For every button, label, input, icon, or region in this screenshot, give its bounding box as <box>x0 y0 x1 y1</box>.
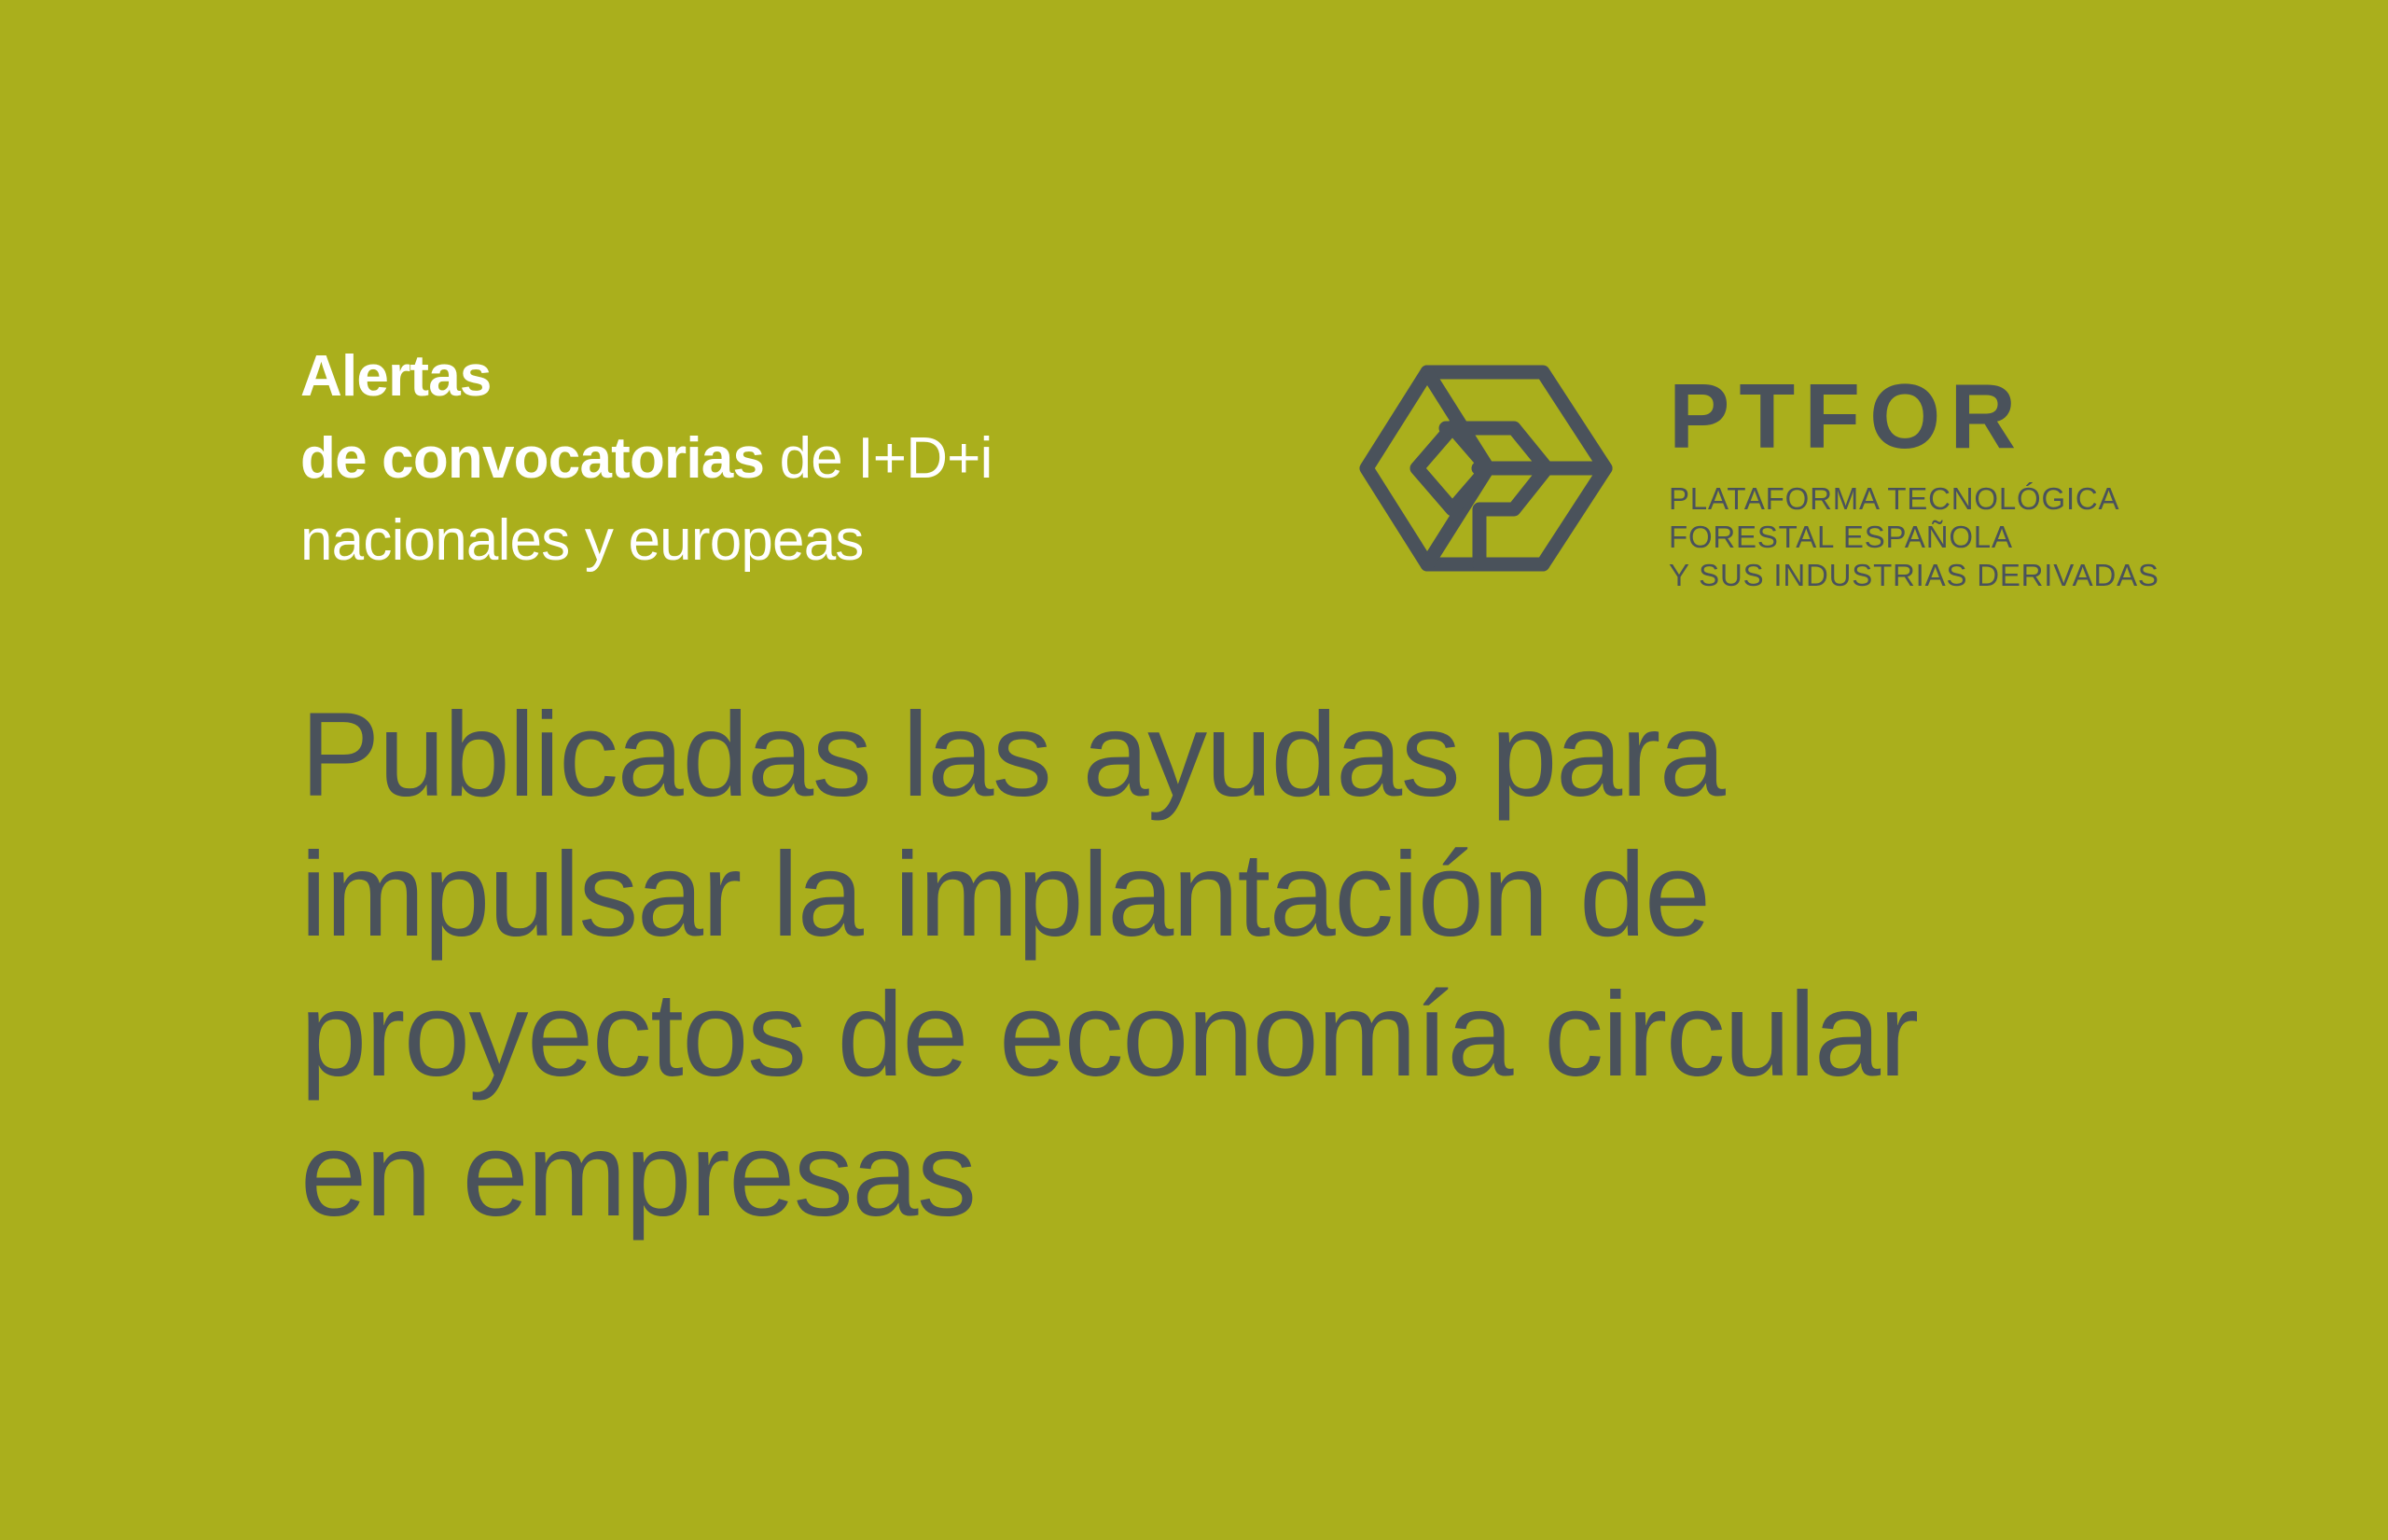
logo-text-block: PTFOR PLATAFORMA TECNOLÓGICA FORESTAL ES… <box>1669 360 2159 594</box>
ptfor-logo-lockup: PTFOR PLATAFORMA TECNOLÓGICA FORESTAL ES… <box>1357 360 2159 594</box>
headline-line-2: impulsar la implantación de <box>300 825 2119 965</box>
tagline-line-1: PLATAFORMA TECNOLÓGICA <box>1669 479 2159 518</box>
eyebrow-text-block: Alertas de convocatorias de I+D+i nacion… <box>300 336 1308 582</box>
tagline-line-3: Y SUS INDUSTRIAS DERIVADAS <box>1669 556 2159 594</box>
eyebrow-line-2: de convocatorias de I+D+i <box>300 418 1308 500</box>
ptfor-wordmark: PTFOR <box>1669 368 2159 465</box>
eyebrow-alertas-label: Alertas <box>300 344 492 409</box>
promo-banner: Alertas de convocatorias de I+D+i nacion… <box>0 0 2388 1540</box>
eyebrow-line-3: nacionales y europeas <box>300 500 1308 582</box>
headline-line-4: en empresas <box>300 1105 2119 1245</box>
eyebrow-idi-label: de I+D+i <box>764 426 992 491</box>
headline-line-3: proyectos de economía circular <box>300 965 2119 1105</box>
headline-block: Publicadas las ayudas para impulsar la i… <box>300 686 2119 1245</box>
ptfor-hexagon-cube-logo-mark <box>1357 360 1628 576</box>
ptfor-tagline: PLATAFORMA TECNOLÓGICA FORESTAL ESPAÑOLA… <box>1669 479 2159 594</box>
tagline-line-2: FORESTAL ESPAÑOLA <box>1669 518 2159 556</box>
eyebrow-line-1: Alertas <box>300 336 1308 418</box>
eyebrow-scope-label: nacionales y europeas <box>300 508 864 573</box>
eyebrow-convocatorias-label: de convocatorias <box>300 426 764 491</box>
headline-line-1: Publicadas las ayudas para <box>300 686 2119 825</box>
